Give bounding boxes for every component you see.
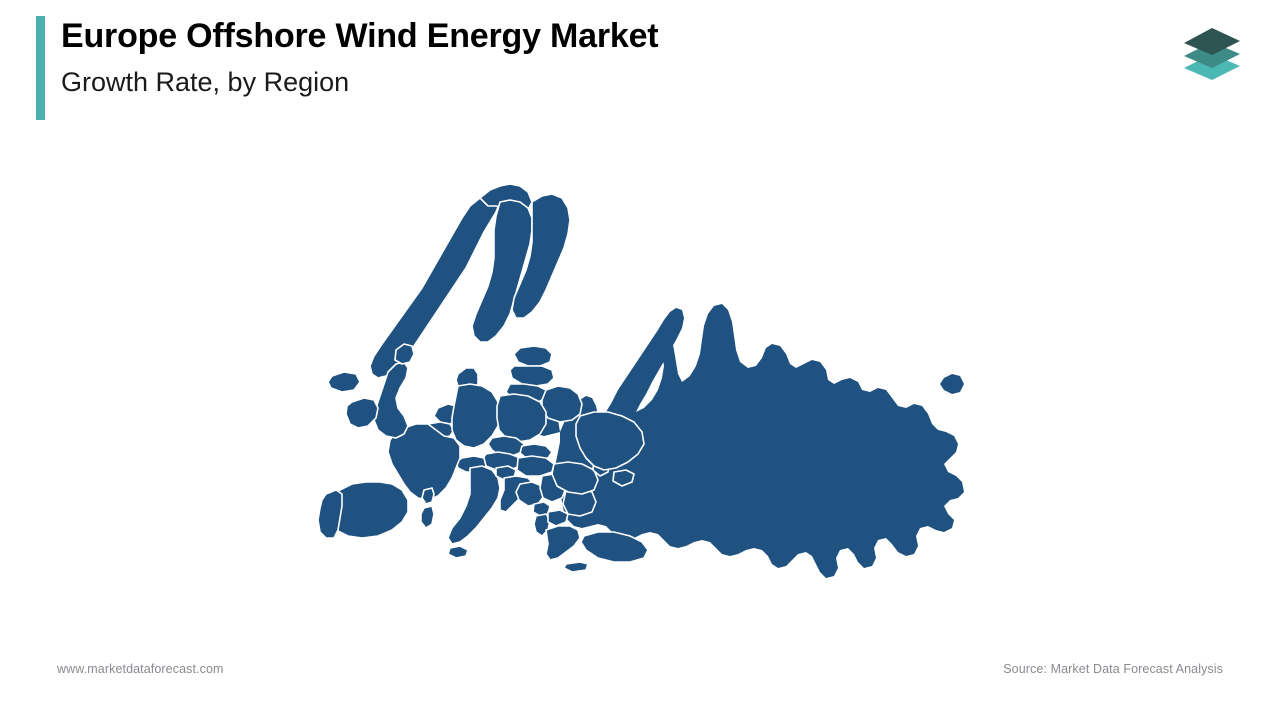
region-north-macedonia <box>548 510 568 526</box>
page-title: Europe Offshore Wind Energy Market <box>61 16 658 56</box>
page-subtitle: Growth Rate, by Region <box>61 56 658 98</box>
region-iceland <box>328 372 360 392</box>
header-text-block: Europe Offshore Wind Energy Market Growt… <box>45 16 658 120</box>
region-italy-sardinia <box>421 506 434 528</box>
title-accent-bar <box>36 16 45 120</box>
region-estonia <box>514 346 552 366</box>
region-italy <box>448 466 500 544</box>
region-norway <box>370 192 500 378</box>
europe-region-map <box>0 150 1280 600</box>
region-greece <box>546 526 580 560</box>
region-ireland <box>346 398 378 428</box>
region-italy-sicily <box>448 546 468 558</box>
footer-source: Source: Market Data Forecast Analysis <box>1003 662 1223 676</box>
region-france-corsica <box>422 488 434 504</box>
map-container <box>0 150 1280 600</box>
region-greece-crete <box>564 562 588 572</box>
region-turkey <box>581 532 648 562</box>
stacked-layers-logo <box>1176 20 1248 86</box>
page-header: Europe Offshore Wind Energy Market Growt… <box>36 16 658 120</box>
region-belarus <box>542 386 582 422</box>
region-hungary <box>517 456 554 476</box>
region-latvia <box>510 366 554 386</box>
region-portugal <box>318 490 342 538</box>
region-russia-chukotka <box>940 374 964 394</box>
region-poland <box>497 394 546 442</box>
map-landmass-group <box>318 184 964 578</box>
footer-website[interactable]: www.marketdataforecast.com <box>57 662 224 676</box>
